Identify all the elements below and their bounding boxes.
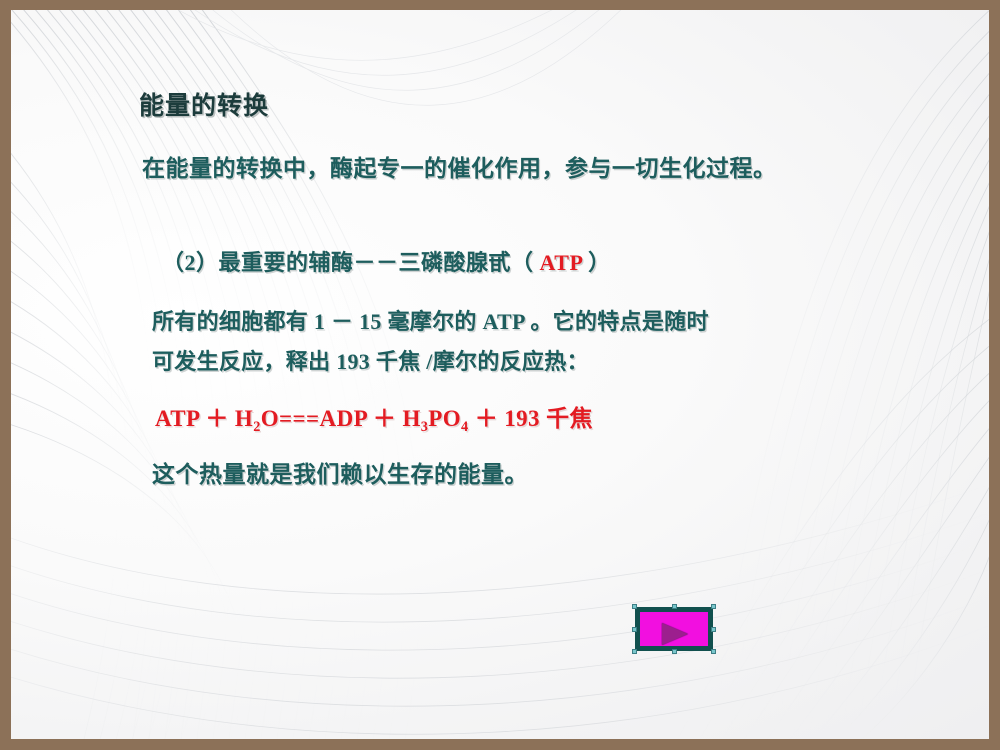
resize-handle-middle-left[interactable] <box>632 627 637 632</box>
resize-handle-bottom-left[interactable] <box>632 649 637 654</box>
resize-handle-top-left[interactable] <box>632 604 637 609</box>
equation-part-1: ATP ＋ H <box>155 406 253 431</box>
resize-handle-top-right[interactable] <box>711 604 716 609</box>
page-title: 能量的转换 <box>139 86 269 122</box>
slide-canvas: 能量的转换 在能量的转换中，酶起专一的催化作用，参与一切生化过程。 （2）最重要… <box>11 10 989 739</box>
play-triangle-icon <box>662 623 688 645</box>
closing-paragraph: 这个热量就是我们赖以生存的能量。 <box>152 455 528 489</box>
intro-paragraph: 在能量的转换中，酶起专一的催化作用，参与一切生化过程。 <box>142 149 777 183</box>
play-button[interactable] <box>635 607 713 651</box>
equation-part-4: ＋ 193 千焦 <box>469 406 593 431</box>
subheading-line: （2）最重要的辅酶－－三磷酸腺甙（ ATP ） <box>162 245 611 277</box>
body-line-2: 可发生反应，释出 193 千焦 /摩尔的反应热： <box>152 344 589 376</box>
slide-outer-frame: 能量的转换 在能量的转换中，酶起专一的催化作用，参与一切生化过程。 （2）最重要… <box>0 0 1000 750</box>
resize-handle-bottom-middle[interactable] <box>672 649 677 654</box>
equation-subscript-2: 3 <box>421 419 429 435</box>
equation-subscript-1: 2 <box>253 419 261 435</box>
subheading-suffix: ） <box>582 250 611 275</box>
body-line-1: 所有的细胞都有 1 － 15 毫摩尔的 ATP 。它的特点是随时 <box>152 304 709 336</box>
equation-part-3: PO <box>428 406 461 431</box>
play-button-object[interactable] <box>635 607 713 651</box>
slide-content: 能量的转换 在能量的转换中，酶起专一的催化作用，参与一切生化过程。 （2）最重要… <box>11 10 989 739</box>
resize-handle-top-middle[interactable] <box>672 604 677 609</box>
resize-handle-bottom-right[interactable] <box>711 649 716 654</box>
subheading-prefix: （2）最重要的辅酶－－三磷酸腺甙（ <box>162 250 540 275</box>
chemical-equation: ATP ＋ H2O===ADP ＋ H3PO4 ＋ 193 千焦 <box>155 399 593 433</box>
equation-part-2: O===ADP ＋ H <box>261 406 421 431</box>
equation-subscript-3: 4 <box>461 419 469 435</box>
resize-handle-middle-right[interactable] <box>711 627 716 632</box>
subheading-accent-atp: ATP <box>540 250 583 275</box>
